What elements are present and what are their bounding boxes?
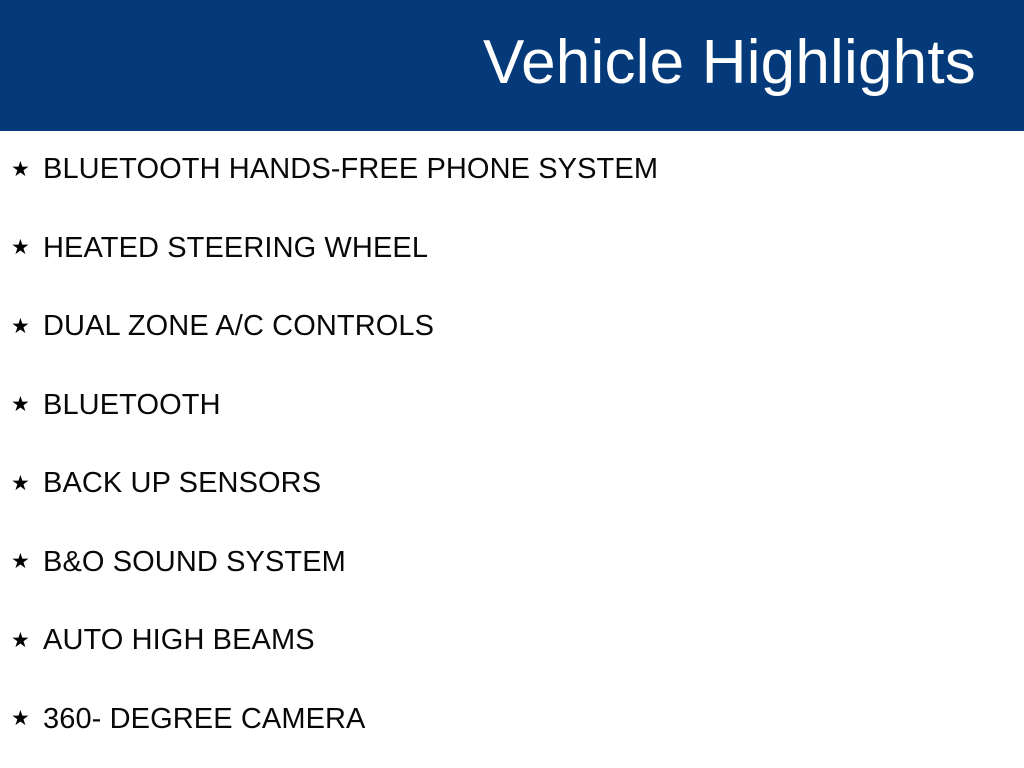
highlight-label: B&O SOUND SYSTEM (43, 547, 346, 579)
star-bullet-icon: ★ (11, 473, 31, 494)
highlight-label: BLUETOOTH (43, 390, 221, 422)
list-item: ★ BACK UP SENSORS (0, 445, 1024, 524)
list-item: ★ BLUETOOTH (0, 367, 1024, 446)
star-bullet-icon: ★ (11, 159, 31, 180)
highlight-label: BLUETOOTH HANDS-FREE PHONE SYSTEM (43, 154, 658, 186)
list-item: ★ AUTO HIGH BEAMS (0, 602, 1024, 681)
vehicle-highlights-list: ★ BLUETOOTH HANDS-FREE PHONE SYSTEM ★ HE… (0, 131, 1024, 768)
list-item: ★ HEATED STEERING WHEEL (0, 210, 1024, 289)
list-item: ★ DUAL ZONE A/C CONTROLS (0, 288, 1024, 367)
header-band: Vehicle Highlights (0, 0, 1024, 131)
star-bullet-icon: ★ (11, 708, 31, 729)
highlight-label: DUAL ZONE A/C CONTROLS (43, 311, 434, 343)
star-bullet-icon: ★ (11, 316, 31, 337)
page-title: Vehicle Highlights (483, 32, 976, 100)
star-bullet-icon: ★ (11, 237, 31, 258)
star-bullet-icon: ★ (11, 551, 31, 572)
highlight-label: BACK UP SENSORS (43, 468, 321, 500)
star-bullet-icon: ★ (11, 394, 31, 415)
highlight-label: HEATED STEERING WHEEL (43, 233, 428, 265)
list-item: ★ B&O SOUND SYSTEM (0, 524, 1024, 603)
highlight-label: AUTO HIGH BEAMS (43, 625, 315, 657)
list-item: ★ BLUETOOTH HANDS-FREE PHONE SYSTEM (0, 131, 1024, 210)
star-bullet-icon: ★ (11, 630, 31, 651)
highlight-label: 360- DEGREE CAMERA (43, 704, 366, 736)
vehicle-highlights-slide: Vehicle Highlights ★ BLUETOOTH HANDS-FRE… (0, 0, 1024, 768)
list-item: ★ 360- DEGREE CAMERA (0, 681, 1024, 760)
